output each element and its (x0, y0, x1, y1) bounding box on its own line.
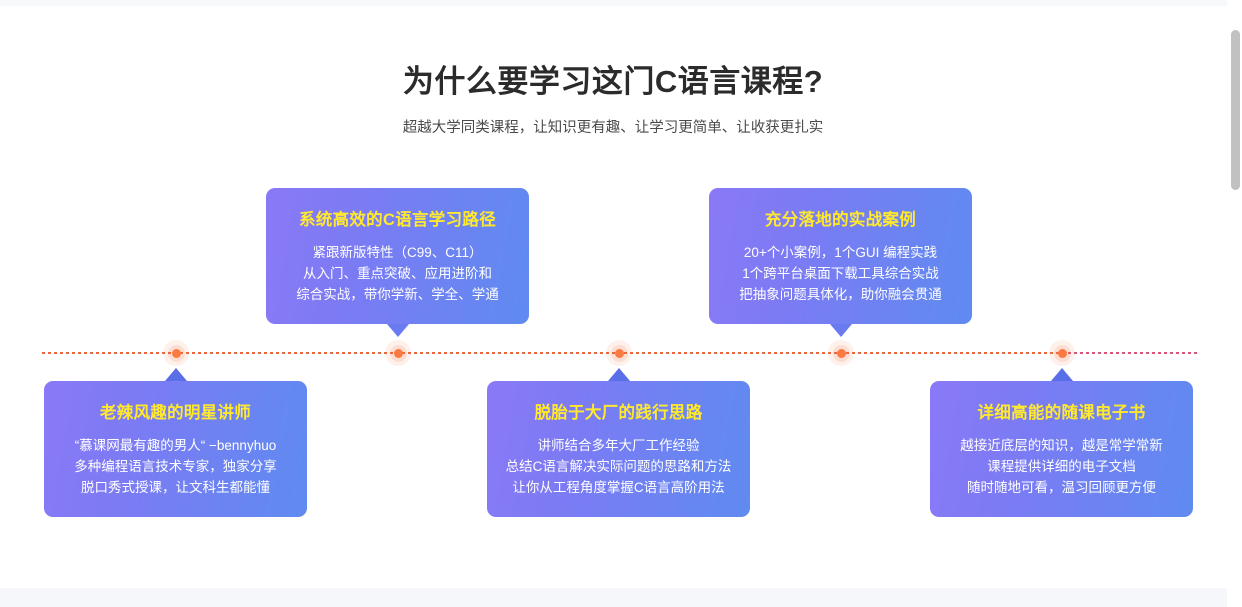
feature-card-title: 系统高效的C语言学习路径 (282, 208, 513, 232)
feature-card-line: 越接近底层的知识，越是常学常新 (946, 435, 1177, 456)
feature-card-line: “慕课网最有趣的男人“ −bennyhuo (60, 435, 291, 456)
card-arrow-up-icon (608, 368, 630, 381)
card-arrow-up-icon (165, 368, 187, 381)
page-title: 为什么要学习这门C语言课程? (0, 60, 1226, 104)
feature-card-line: 从入门、重点突破、应用进阶和 (282, 263, 513, 284)
feature-card-line: 讲师结合多年大厂工作经验 (503, 435, 734, 456)
page-root: 为什么要学习这门C语言课程? 超越大学同类课程，让知识更有趣、让学习更简单、让收… (0, 0, 1242, 607)
feature-card-line: 1个跨平台桌面下载工具综合实战 (725, 263, 956, 284)
feature-card-line: 总结C语言解决实际问题的思路和方法 (503, 456, 734, 477)
timeline-dot-3 (606, 340, 632, 366)
feature-card-title: 充分落地的实战案例 (725, 208, 956, 232)
feature-card-line: 随时随地可看，温习回顾更方便 (946, 477, 1177, 498)
feature-card-line: 多种编程语言技术专家，独家分享 (60, 456, 291, 477)
timeline-dot-2 (385, 340, 411, 366)
card-arrow-down-icon (387, 324, 409, 337)
card-arrow-up-icon (1051, 368, 1073, 381)
feature-card-line: 脱口秀式授课，让文科生都能懂 (60, 477, 291, 498)
feature-card-bottom-2[interactable]: 脱胎于大厂的践行思路讲师结合多年大厂工作经验总结C语言解决实际问题的思路和方法让… (487, 381, 750, 517)
feature-card-line: 课程提供详细的电子文档 (946, 456, 1177, 477)
feature-card-top-1[interactable]: 系统高效的C语言学习路径紧跟新版特性（C99、C11）从入门、重点突破、应用进阶… (266, 188, 529, 324)
scrollbar-track[interactable] (1227, 0, 1242, 607)
page-bottom-band (0, 588, 1242, 607)
feature-card-line: 综合实战，带你学新、学全、学通 (282, 284, 513, 305)
page-heading: 为什么要学习这门C语言课程? 超越大学同类课程，让知识更有趣、让学习更简单、让收… (0, 60, 1226, 140)
scrollbar-thumb[interactable] (1231, 30, 1240, 190)
feature-card-top-2[interactable]: 充分落地的实战案例20+个小案例，1个GUI 编程实践1个跨平台桌面下载工具综合… (709, 188, 972, 324)
page-top-band (0, 0, 1242, 6)
feature-card-title: 详细高能的随课电子书 (946, 401, 1177, 425)
timeline-dotted-line-right (1062, 352, 1197, 354)
timeline-dot-1 (163, 340, 189, 366)
feature-card-bottom-1[interactable]: 老辣风趣的明星讲师“慕课网最有趣的男人“ −bennyhuo多种编程语言技术专家… (44, 381, 307, 517)
feature-card-line: 让你从工程角度掌握C语言高阶用法 (503, 477, 734, 498)
timeline (42, 352, 1197, 354)
feature-card-line: 紧跟新版特性（C99、C11） (282, 242, 513, 263)
feature-card-title: 老辣风趣的明星讲师 (60, 401, 291, 425)
timeline-dot-5 (1049, 340, 1075, 366)
feature-card-title: 脱胎于大厂的践行思路 (503, 401, 734, 425)
timeline-dot-4 (828, 340, 854, 366)
feature-card-bottom-3[interactable]: 详细高能的随课电子书越接近底层的知识，越是常学常新课程提供详细的电子文档随时随地… (930, 381, 1193, 517)
card-arrow-down-icon (830, 324, 852, 337)
feature-card-line: 20+个小案例，1个GUI 编程实践 (725, 242, 956, 263)
page-subtitle: 超越大学同类课程，让知识更有趣、让学习更简单、让收获更扎实 (0, 116, 1226, 140)
feature-card-line: 把抽象问题具体化，助你融会贯通 (725, 284, 956, 305)
